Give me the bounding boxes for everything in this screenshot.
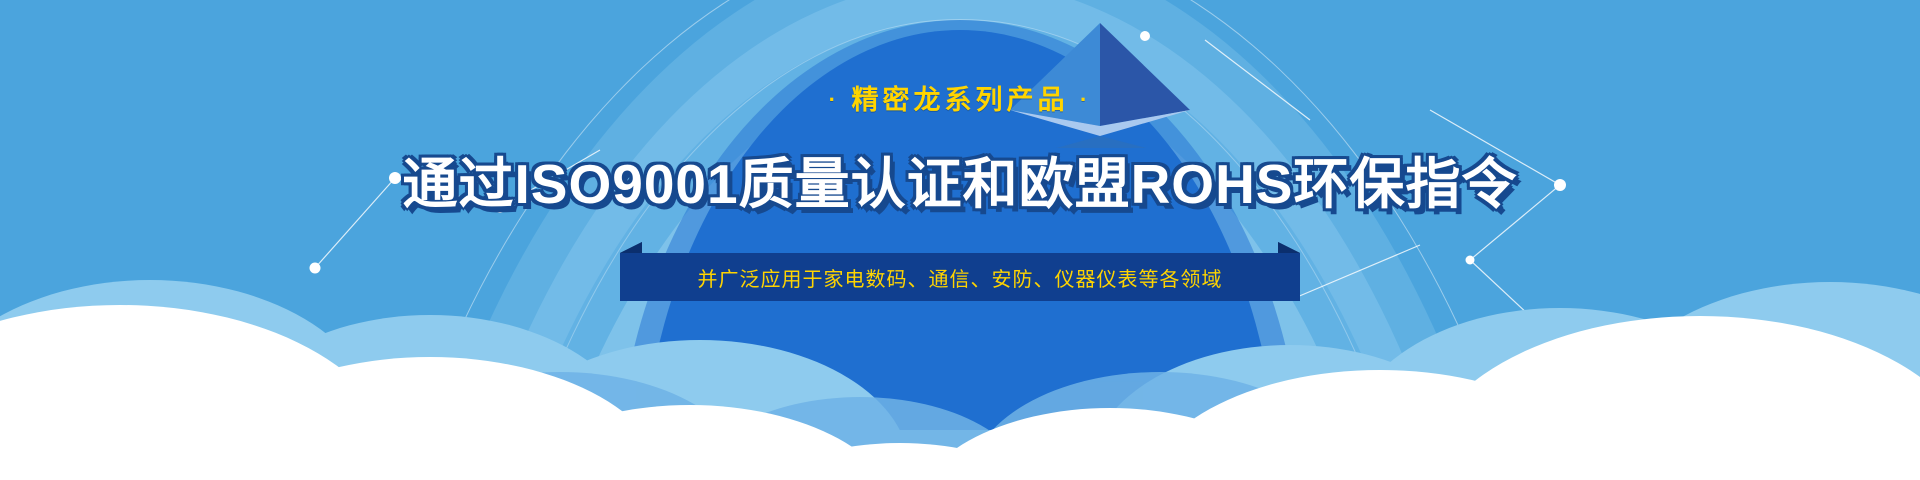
ribbon-fold-right-icon (1278, 242, 1300, 253)
banner-content: · 精密龙系列产品 · 通过ISO9001质量认证和欧盟ROHS环保指令 并广泛… (0, 0, 1920, 301)
ribbon-fold-left-icon (620, 242, 642, 253)
promo-banner: · 精密龙系列产品 · 通过ISO9001质量认证和欧盟ROHS环保指令 并广泛… (0, 0, 1920, 480)
bullet-right-icon: · (1080, 87, 1091, 112)
headline-text: 通过ISO9001质量认证和欧盟ROHS环保指令 (0, 139, 1920, 219)
ribbon-banner: 并广泛应用于家电数码、通信、安防、仪器仪表等各领域 (620, 253, 1300, 301)
bullet-left-icon: · (829, 87, 840, 112)
eyebrow-text: · 精密龙系列产品 · (0, 78, 1920, 117)
ribbon-text: 并广泛应用于家电数码、通信、安防、仪器仪表等各领域 (620, 253, 1300, 301)
eyebrow-label: 精密龙系列产品 (852, 85, 1069, 115)
